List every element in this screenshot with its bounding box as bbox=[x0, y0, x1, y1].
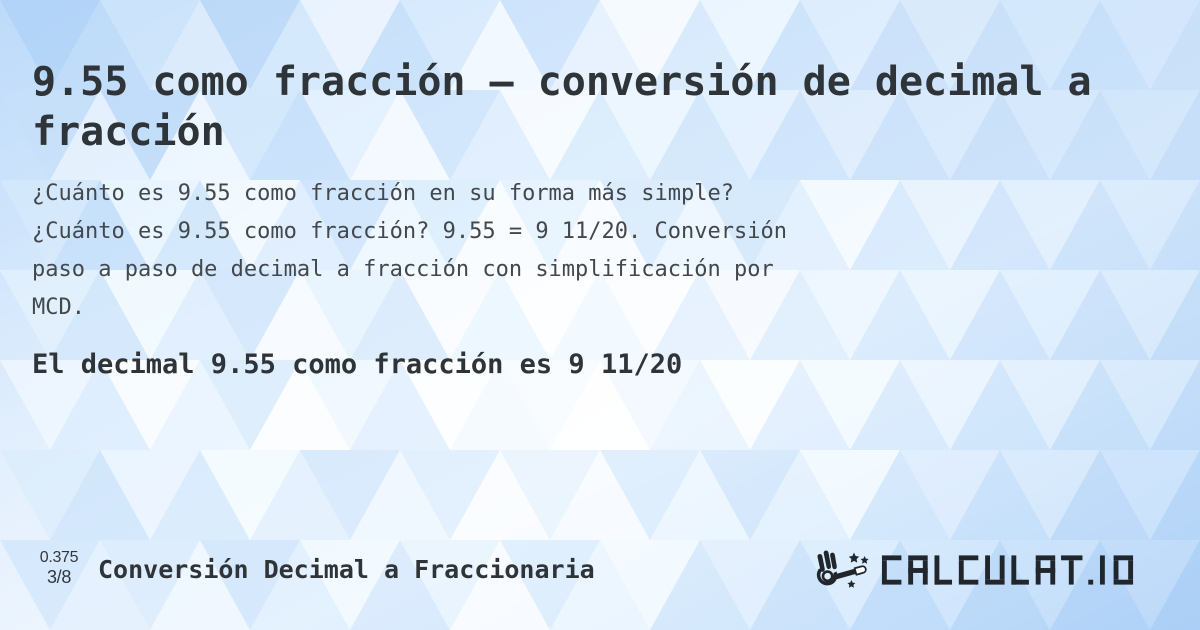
share-card: 9.55 como fracción – conversión de decim… bbox=[0, 0, 1200, 630]
description-line-2: ¿Cuánto es 9.55 como fracción? 9.55 = 9 … bbox=[32, 213, 1122, 251]
description-line-1: ¿Cuánto es 9.55 como fracción en su form… bbox=[32, 175, 1122, 213]
calculatio-wordmark: CALCULAT.IO bbox=[880, 548, 1172, 592]
description-line-4: MCD. bbox=[32, 289, 1122, 327]
calculatio-logo[interactable]: CALCULAT.IO bbox=[814, 545, 1172, 595]
result-statement: El decimal 9.55 como fracción es 9 11/20 bbox=[32, 345, 682, 385]
decimal-fraction-icon: 0.375 3/8 bbox=[28, 548, 90, 596]
card-footer: 0.375 3/8 Conversión Decimal a Fracciona… bbox=[0, 545, 1200, 605]
hand-holding-magic-wand-icon bbox=[814, 548, 876, 592]
decimal-fraction-icon-fraction: 3/8 bbox=[28, 567, 90, 588]
footer-category-label: Conversión Decimal a Fraccionaria bbox=[98, 553, 595, 587]
card-content: 9.55 como fracción – conversión de decim… bbox=[0, 0, 1200, 630]
description-line-3: paso a paso de decimal a fracción con si… bbox=[32, 251, 1122, 289]
page-description: ¿Cuánto es 9.55 como fracción en su form… bbox=[32, 175, 1122, 327]
decimal-fraction-icon-decimal: 0.375 bbox=[28, 548, 90, 567]
page-title: 9.55 como fracción – conversión de decim… bbox=[32, 57, 1132, 157]
